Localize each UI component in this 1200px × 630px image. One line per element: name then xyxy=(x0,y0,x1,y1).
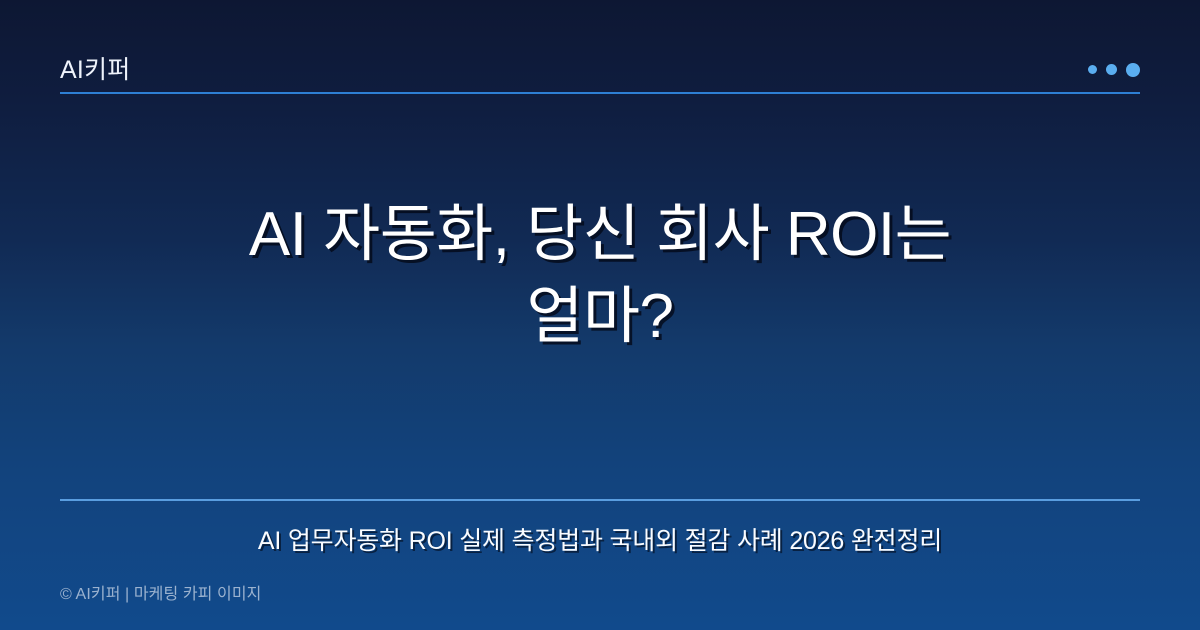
credit-line: © AI키퍼 | 마케팅 카피 이미지 xyxy=(60,585,1140,604)
subtitle-divider xyxy=(60,499,1140,501)
card-footer: AI 업무자동화 ROI 실제 측정법과 국내외 절감 사례 2026 완전정리… xyxy=(60,499,1140,630)
page-title-line-1: AI 자동화, 당신 회사 ROI는 xyxy=(249,200,951,269)
accent-dot-large-icon xyxy=(1126,63,1140,77)
page-title-line-2: 얼마? xyxy=(526,282,673,351)
page-subtitle: AI 업무자동화 ROI 실제 측정법과 국내외 절감 사례 2026 완전정리 xyxy=(60,525,1140,559)
brand-label: AI키퍼 xyxy=(60,58,130,83)
card-main: AI 자동화, 당신 회사 ROI는 얼마? xyxy=(60,94,1140,499)
promo-card: AI키퍼 AI 자동화, 당신 회사 ROI는 얼마? AI 업무자동화 ROI… xyxy=(0,0,1200,630)
accent-dot-small-icon xyxy=(1088,65,1097,74)
accent-dot-group xyxy=(1088,63,1140,77)
page-title: AI 자동화, 당신 회사 ROI는 얼마? xyxy=(60,194,1140,358)
accent-dot-medium-icon xyxy=(1106,64,1117,75)
card-header: AI키퍼 xyxy=(60,0,1140,94)
